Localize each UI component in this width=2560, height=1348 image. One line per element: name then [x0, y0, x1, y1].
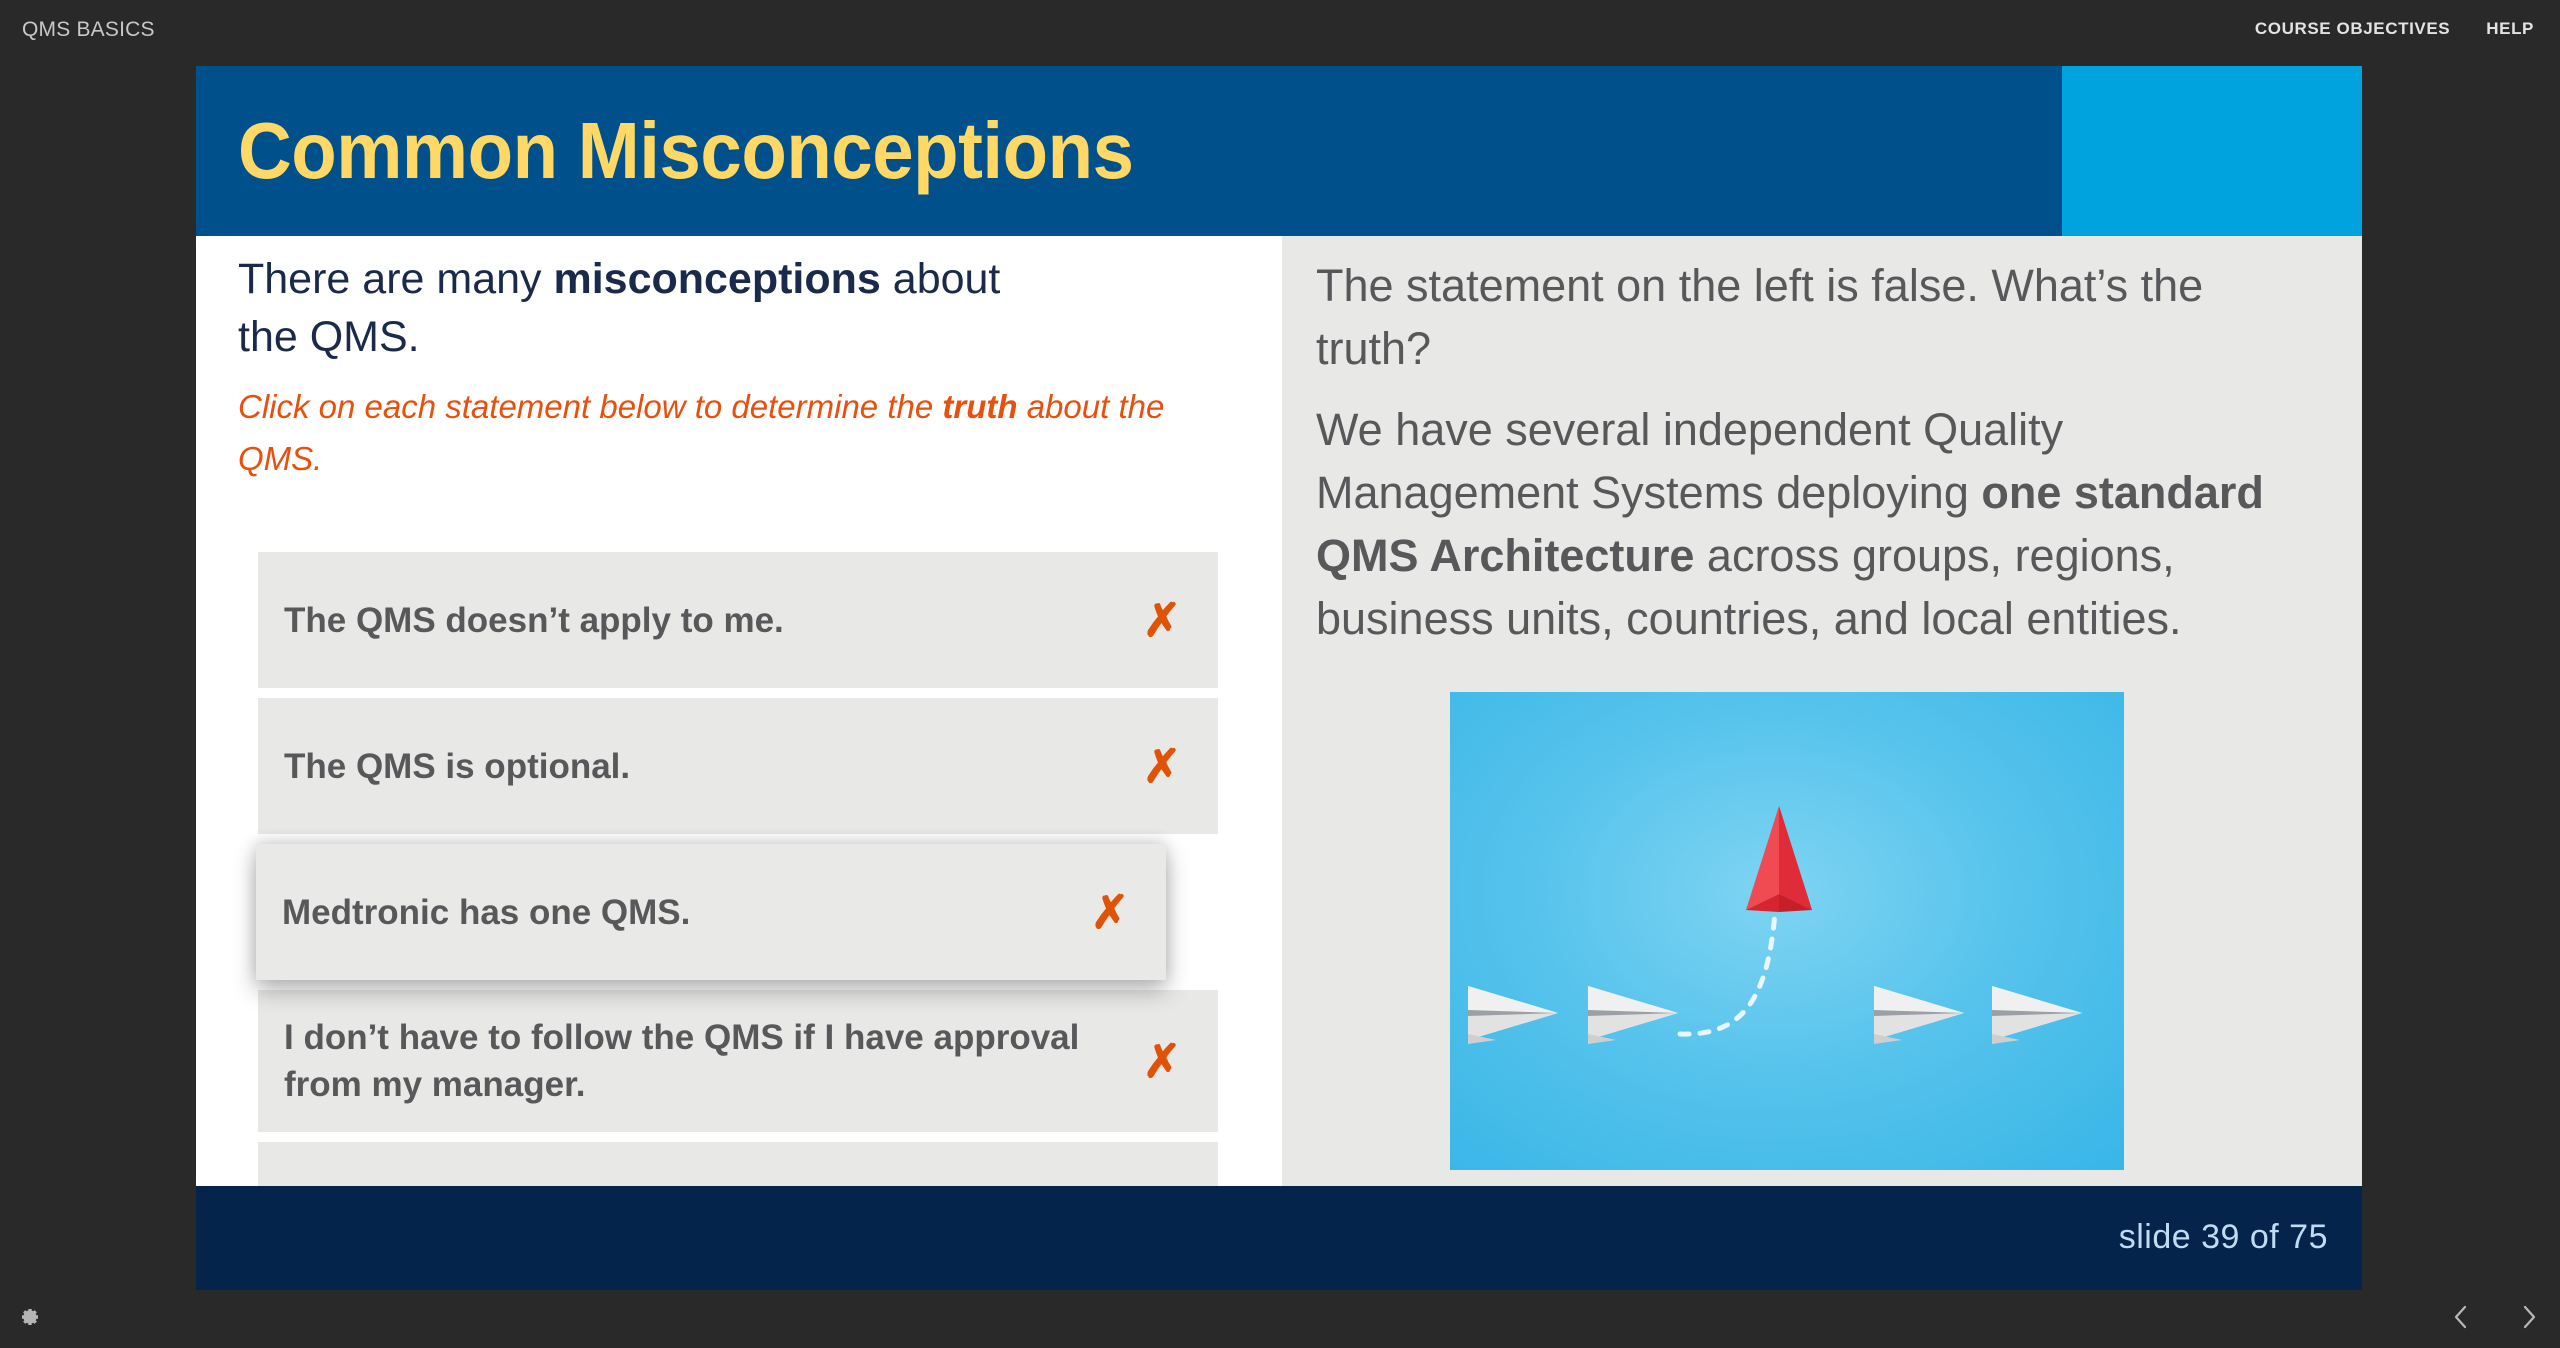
paper-planes-illustration [1450, 692, 2124, 1170]
slide-body: There are many misconceptions about the … [196, 236, 2362, 1186]
slide-header-band: Common Misconceptions [196, 66, 2362, 236]
statement-text: Medtronic has one QMS. [282, 889, 1082, 936]
truth-answer: We have several independent Quality Mana… [1316, 398, 2316, 650]
intro-text: There are many misconceptions about the … [238, 250, 1068, 366]
slide-footer-band: slide 39 of 75 [196, 1186, 2362, 1290]
statement-text: The QMS doesn’t apply to me. [284, 597, 1134, 644]
intro-bold: misconceptions [553, 255, 880, 303]
white-plane-icon [1872, 982, 1968, 1044]
chevron-left-icon [2451, 1303, 2471, 1336]
answer-part1: We have several independent Quality Mana… [1316, 404, 2063, 518]
statement-card-4[interactable]: I don’t have to follow the QMS if I have… [258, 990, 1218, 1132]
statement-card-3-selected[interactable]: Medtronic has one QMS. ✗ [256, 844, 1166, 980]
left-panel: There are many misconceptions about the … [196, 236, 1282, 1186]
top-navigation: COURSE OBJECTIVES HELP [2255, 19, 2534, 39]
slide-navigation [2448, 1302, 2542, 1336]
truth-question: The statement on the left is false. What… [1316, 254, 2316, 380]
white-plane-icon [1990, 982, 2086, 1044]
statement-text: The QMS is optional. [284, 743, 1134, 790]
statement-card-1[interactable]: The QMS doesn’t apply to me. ✗ [258, 552, 1218, 688]
slide-stage: Common Misconceptions There are many mis… [196, 66, 2362, 1290]
gear-icon [19, 1306, 41, 1333]
instruction-prefix: Click on each statement below to determi… [238, 388, 942, 425]
instruction-bold: truth [942, 388, 1017, 425]
slide-counter: slide 39 of 75 [2119, 1218, 2328, 1257]
white-plane-icon [1466, 982, 1562, 1044]
course-objectives-link[interactable]: COURSE OBJECTIVES [2255, 19, 2450, 39]
chevron-right-icon [2519, 1303, 2539, 1336]
x-mark-icon: ✗ [1082, 889, 1138, 935]
white-plane-icon [1586, 982, 1682, 1044]
statement-text: I don’t have to follow the QMS if I have… [284, 1014, 1134, 1108]
statement-card-2[interactable]: The QMS is optional. ✗ [258, 698, 1218, 834]
course-player: QMS BASICS COURSE OBJECTIVES HELP Common… [0, 0, 2560, 1348]
course-title: QMS BASICS [22, 18, 155, 42]
x-mark-icon: ✗ [1134, 1038, 1190, 1084]
red-plane-icon [1742, 804, 1816, 914]
player-top-bar: QMS BASICS COURSE OBJECTIVES HELP [0, 0, 2560, 62]
header-accent-block [2062, 66, 2362, 236]
x-mark-icon: ✗ [1134, 743, 1190, 789]
right-panel: The statement on the left is false. What… [1282, 236, 2362, 1186]
intro-prefix: There are many [238, 255, 553, 303]
x-mark-icon: ✗ [1134, 597, 1190, 643]
previous-slide-button[interactable] [2448, 1302, 2474, 1336]
click-instruction: Click on each statement below to determi… [238, 381, 1238, 485]
player-bottom-bar [0, 1290, 2560, 1348]
next-slide-button[interactable] [2516, 1302, 2542, 1336]
slide-title: Common Misconceptions [238, 98, 1134, 204]
help-link[interactable]: HELP [2486, 19, 2534, 39]
settings-button[interactable] [14, 1303, 46, 1335]
